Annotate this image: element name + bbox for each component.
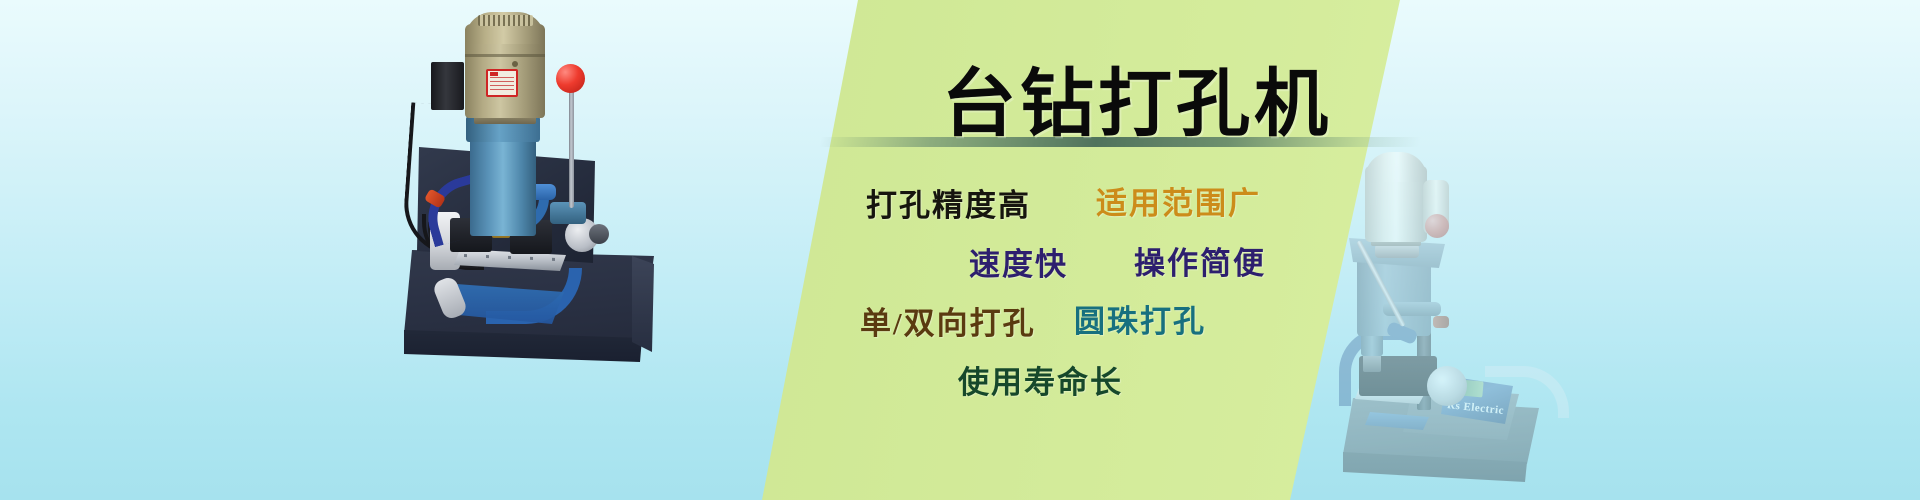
feature-long-life: 使用寿命长 <box>958 357 1123 402</box>
feature-fast-speed: 速度快 <box>969 239 1068 284</box>
feature-list: 打孔精度高 适用范围广 速度快 操作简便 单/双向打孔 圆珠打孔 使用寿命长 <box>0 0 1920 500</box>
feature-easy-operation: 操作简便 <box>1134 238 1266 283</box>
feature-single-double-drilling: 单/双向打孔 <box>860 298 1036 343</box>
promo-banner: Rs Electric 台钻打孔机 打孔精度高 适用范围广 速度快 操作简便 单… <box>0 0 1920 500</box>
feature-precision: 打孔精度高 <box>866 180 1031 225</box>
feature-ball-drilling: 圆珠打孔 <box>1074 296 1206 341</box>
feature-wide-range: 适用范围广 <box>1096 178 1261 223</box>
